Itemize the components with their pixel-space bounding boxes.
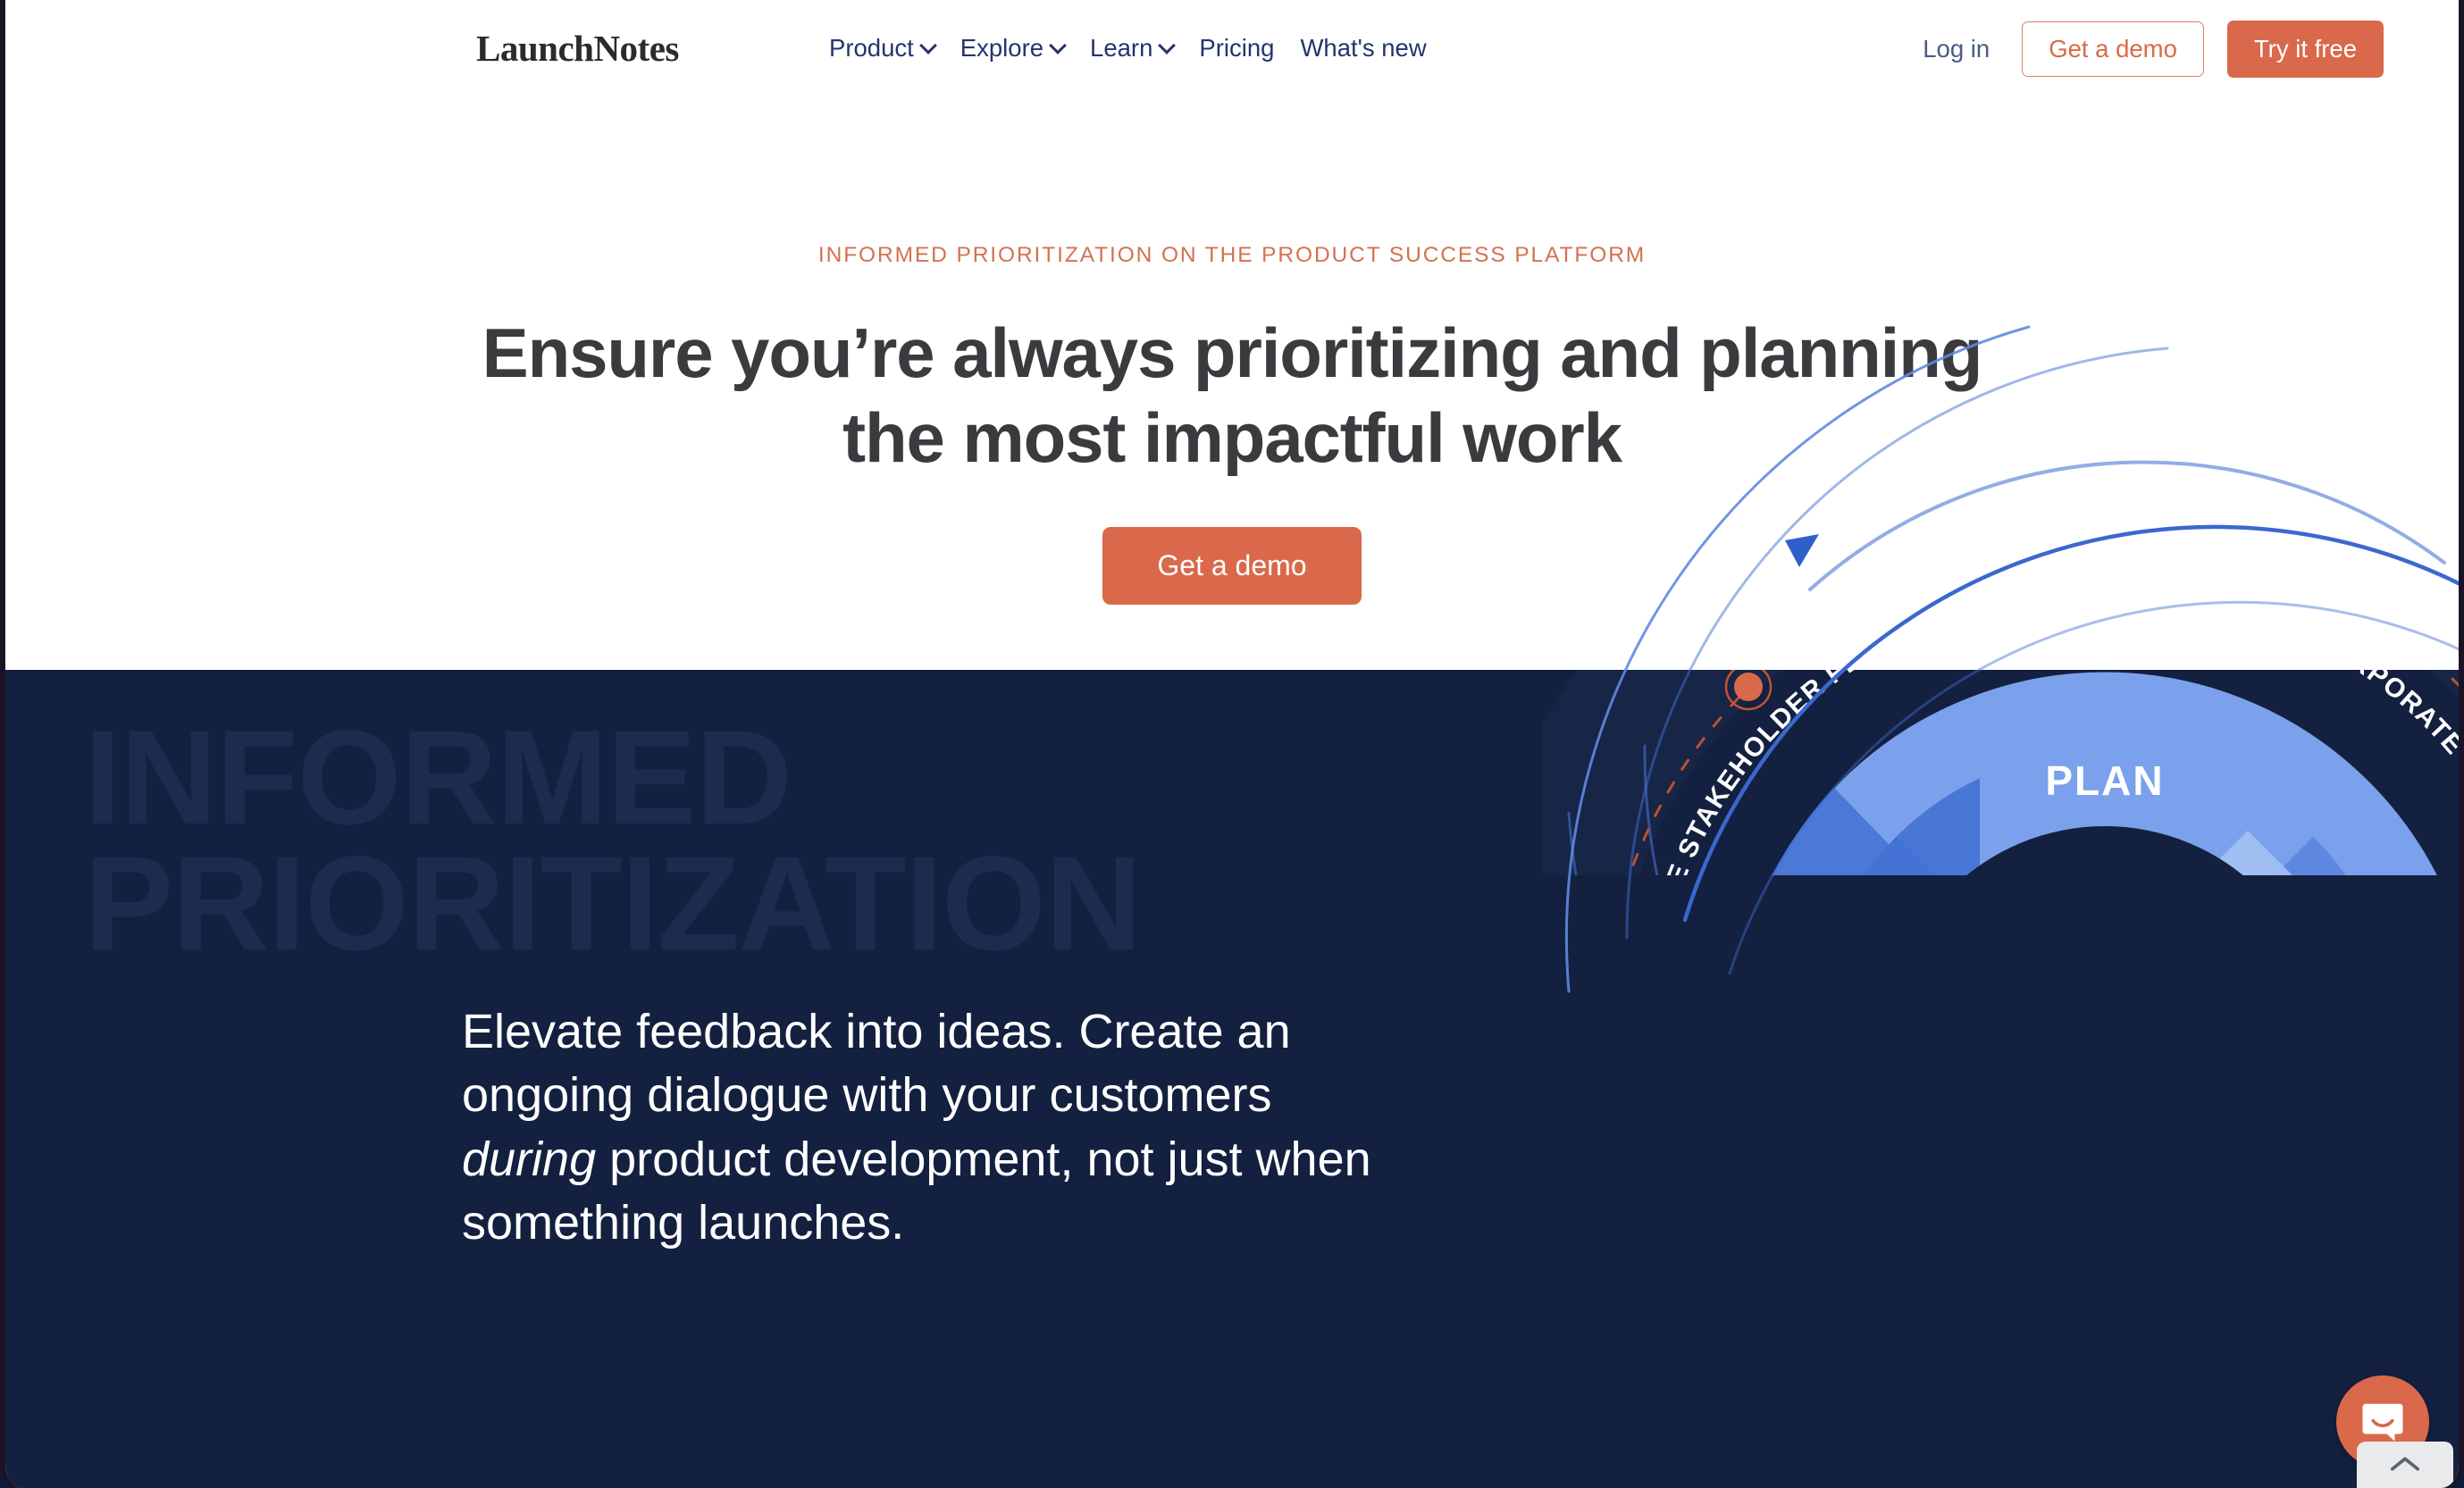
background-watermark-text: INFORMED PRIORITIZATION: [84, 715, 1141, 966]
nav-item-product-label: Product: [829, 36, 914, 61]
hero-eyebrow: INFORMED PRIORITIZATION ON THE PRODUCT S…: [5, 243, 2459, 268]
nav-item-learn-label: Learn: [1090, 36, 1152, 61]
body-tail: product development, not just when somet…: [462, 1133, 1371, 1250]
section-body-copy: Elevate feedback into ideas. Create an o…: [462, 1000, 1409, 1255]
nav-item-explore[interactable]: Explore: [960, 36, 1064, 61]
launchnotes-logo[interactable]: LaunchNotes: [476, 27, 679, 70]
chevron-up-icon: [2390, 1454, 2420, 1474]
chevron-down-icon: [921, 38, 934, 52]
nav-item-whats-new[interactable]: What's new: [1300, 36, 1426, 61]
nav-item-product[interactable]: Product: [829, 36, 934, 61]
get-a-demo-button-hero[interactable]: Get a demo: [1102, 527, 1361, 605]
chevron-down-icon: [1160, 38, 1173, 52]
get-a-demo-button-header[interactable]: Get a demo: [2022, 21, 2204, 77]
nav-item-explore-label: Explore: [960, 36, 1043, 61]
page-title: Ensure you’re always prioritizing and pl…: [432, 311, 2032, 481]
site-header: LaunchNotes Product Explore Learn Pricin…: [5, 0, 2459, 103]
page-root: LaunchNotes Product Explore Learn Pricin…: [0, 0, 2464, 1488]
primary-navigation: Product Explore Learn Pricing What's new: [829, 36, 1427, 61]
scroll-to-top-button[interactable]: [2357, 1442, 2453, 1488]
chat-bubble-icon: [2359, 1398, 2407, 1446]
nav-item-pricing[interactable]: Pricing: [1199, 36, 1274, 61]
try-it-free-button[interactable]: Try it free: [2227, 21, 2384, 78]
body-emphasis: during: [462, 1133, 596, 1186]
body-lead: Elevate feedback into ideas. Create an o…: [462, 1005, 1291, 1122]
nav-item-learn[interactable]: Learn: [1090, 36, 1173, 61]
hero-section: INFORMED PRIORITIZATION ON THE PRODUCT S…: [5, 103, 2459, 670]
header-actions: Log in Get a demo Try it free: [1923, 21, 2384, 78]
chevron-down-icon: [1051, 38, 1064, 52]
login-link[interactable]: Log in: [1923, 35, 1990, 63]
informed-prioritization-section: INFORMED PRIORITIZATION Elevate feedback…: [5, 670, 2459, 1488]
